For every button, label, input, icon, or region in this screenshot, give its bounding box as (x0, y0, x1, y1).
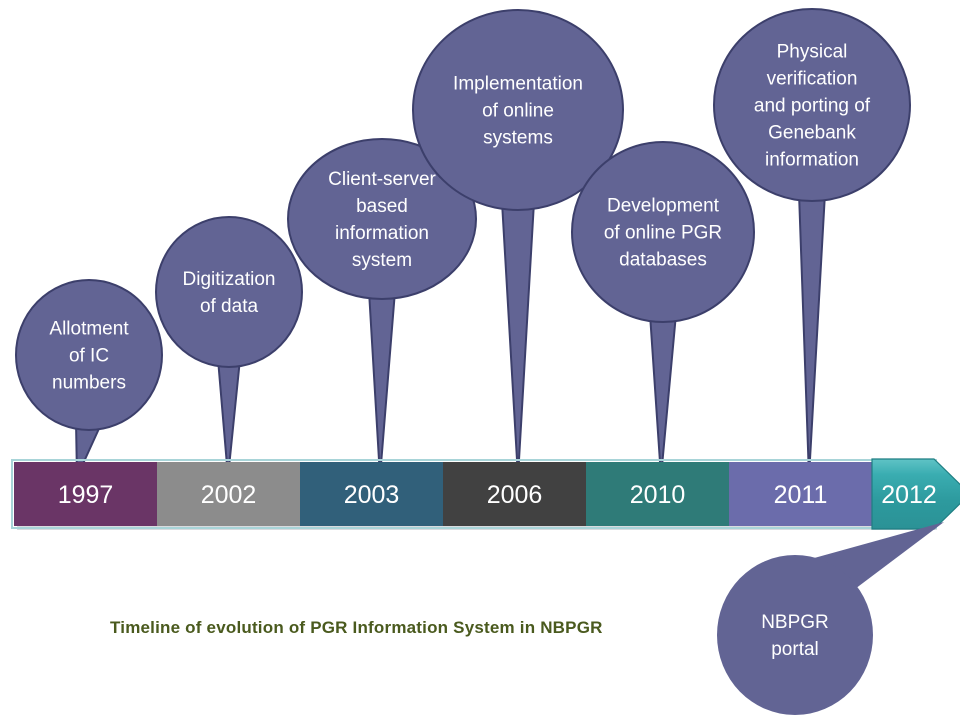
bubble-label-line: based (356, 196, 408, 217)
bubble-development-of-online-pgr-databases[interactable]: Developmentof online PGRdatabases (572, 142, 754, 322)
timeline-segment-2010[interactable]: 2010 (586, 462, 729, 526)
diagram-caption: Timeline of evolution of PGR Information… (110, 618, 603, 637)
bubble-label-line: verification (767, 69, 858, 90)
bubble-label-line: Digitization (183, 269, 276, 290)
timeline-segment-2011[interactable]: 2011 (729, 462, 872, 526)
bubble-tail-physical-verification-and-porting-of-genebank-information (799, 193, 825, 477)
timeline-year-label-2011: 2011 (774, 481, 828, 509)
bubble-label-line: of IC (69, 346, 109, 367)
bubble-label-line: of online (482, 101, 554, 122)
bubble-tail-implementation-of-online-systems (502, 202, 534, 477)
bubble-digitization-of-data[interactable]: Digitizationof data (156, 217, 302, 367)
timeline-year-label-2006: 2006 (487, 481, 543, 509)
timeline-segment-2002[interactable]: 2002 (157, 462, 300, 526)
bubble-label-line: information (765, 150, 859, 171)
timeline-year-label-2003: 2003 (344, 481, 400, 509)
timeline-year-label-2012: 2012 (881, 481, 937, 509)
timeline-year-label-2010: 2010 (630, 481, 686, 509)
bubbles-group: Allotmentof ICnumbersDigitizationof data… (16, 9, 910, 430)
bubble-label-line: Genebank (768, 123, 856, 144)
bubble-label-line: Development (607, 196, 720, 217)
bubble-label-line: databases (619, 250, 707, 271)
bubble-physical-verification-and-porting-of-genebank-information[interactable]: Physicalverificationand porting ofGeneba… (714, 9, 910, 201)
timeline-diagram: 1997200220032006201020112012 Allotmentof… (0, 0, 960, 720)
timeline-bar: 1997200220032006201020112012 (12, 459, 960, 530)
bubble-label-line: and porting of (754, 96, 871, 117)
nbpgr-portal-group: NBPGRportal (717, 522, 944, 715)
bubble-label-line: of online PGR (604, 223, 722, 244)
bubble-label-line: of data (200, 296, 259, 317)
bubble-nbpgr-portal[interactable]: NBPGRportal (717, 555, 873, 715)
bubble-label-line: numbers (52, 373, 126, 394)
bubble-tail-development-of-online-pgr-databases (650, 314, 676, 477)
bubble-shape (717, 555, 873, 715)
bubble-label-line: NBPGR (761, 612, 829, 633)
bubble-allotment-of-ic-numbers[interactable]: Allotmentof ICnumbers (16, 280, 162, 430)
bubble-label-line: Physical (777, 42, 848, 63)
timeline-segment-2012[interactable]: 2012 (872, 459, 960, 529)
bubble-label-line: Allotment (49, 319, 129, 340)
timeline-segment-1997[interactable]: 1997 (14, 462, 157, 526)
bubble-label-line: Implementation (453, 74, 583, 95)
timeline-year-label-1997: 1997 (58, 481, 114, 509)
bubble-label-line: Client-server (328, 169, 436, 190)
bubble-label-line: portal (771, 639, 819, 660)
bubble-label-line: systems (483, 128, 553, 149)
timeline-year-label-2002: 2002 (201, 481, 257, 509)
timeline-svg: 1997200220032006201020112012 Allotmentof… (0, 0, 960, 720)
timeline-segment-2003[interactable]: 2003 (300, 462, 443, 526)
timeline-segment-2006[interactable]: 2006 (443, 462, 586, 526)
bubble-label-line: information (335, 223, 429, 244)
bubble-shape (156, 217, 302, 367)
bubble-label-line: system (352, 250, 412, 271)
bubble-tail-client-server-based-information-system (369, 291, 395, 477)
